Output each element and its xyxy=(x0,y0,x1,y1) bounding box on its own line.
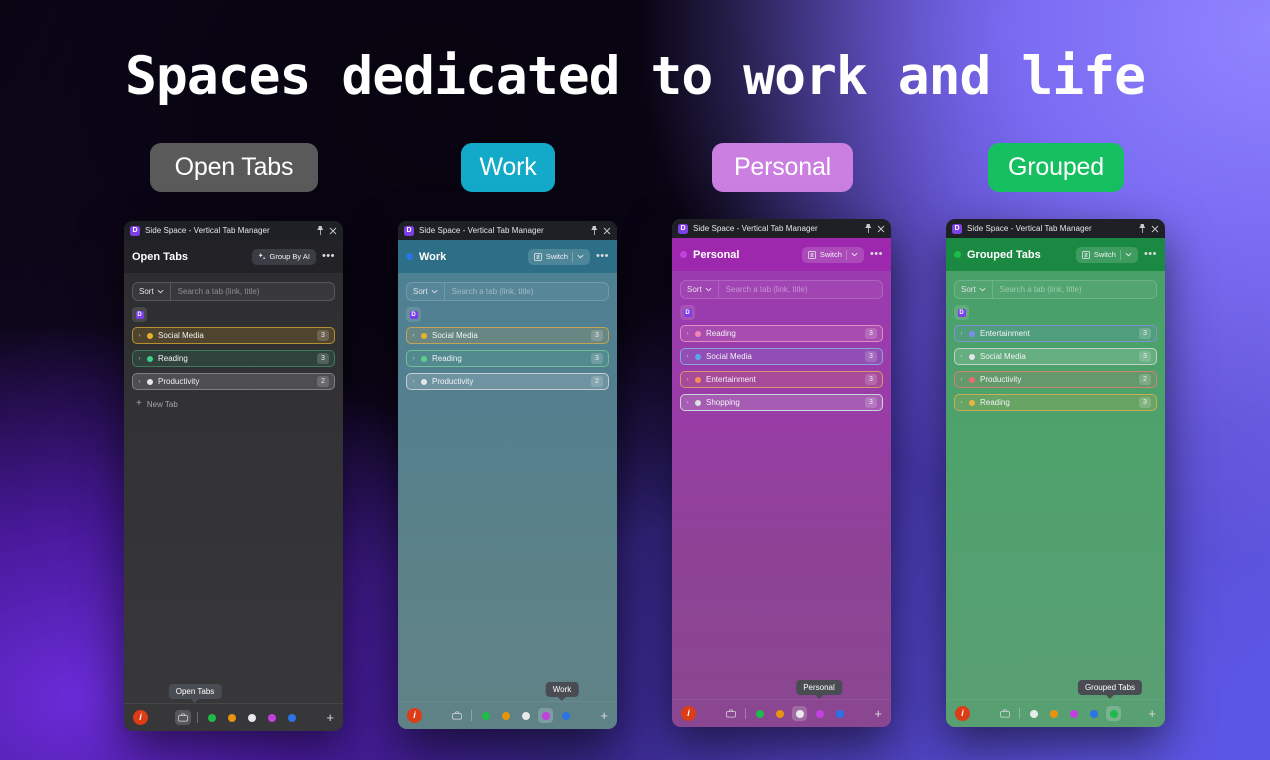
space-switch-dot[interactable] xyxy=(204,710,219,725)
panel-body: SortD›Entertainment3›Social Media3›Produ… xyxy=(946,271,1165,699)
space-switch-dot[interactable] xyxy=(832,706,847,721)
group-color-dot xyxy=(695,377,701,383)
panel-open-tabs: DSide Space - Vertical Tab ManagerOpen T… xyxy=(124,221,343,731)
column-label-2: Personal xyxy=(712,143,853,192)
panel-body: SortD›Social Media3›Reading3›Productivit… xyxy=(124,273,343,703)
chevron-down-icon[interactable] xyxy=(577,254,584,259)
expand-chevron-icon[interactable]: › xyxy=(959,354,964,360)
column-label-3: Grouped xyxy=(988,143,1124,192)
space-name: Open Tabs xyxy=(132,251,188,263)
panel-personal: DSide Space - Vertical Tab ManagerPerson… xyxy=(672,219,891,727)
switch-label: Switch xyxy=(820,250,842,259)
expand-chevron-icon[interactable]: › xyxy=(137,379,142,385)
group-name: Productivity xyxy=(158,377,312,386)
space-switch-dot[interactable] xyxy=(772,706,787,721)
page-title: Spaces dedicated to work and life xyxy=(0,46,1270,107)
sort-button[interactable]: Sort xyxy=(133,283,171,300)
switch-icon xyxy=(808,251,816,259)
add-space-button[interactable]: + xyxy=(600,709,608,722)
group-name: Social Media xyxy=(980,352,1134,361)
pinned-tab-item[interactable]: D xyxy=(680,305,695,320)
dock-tooltip: Personal xyxy=(796,680,842,695)
space-switch-dot[interactable] xyxy=(1046,706,1061,721)
tab-group-row[interactable]: ›Productivity2 xyxy=(406,373,609,390)
group-tab-count: 3 xyxy=(865,374,877,385)
close-icon[interactable] xyxy=(1151,225,1159,233)
tab-group-row[interactable]: ›Reading3 xyxy=(132,350,335,367)
search-input[interactable] xyxy=(445,283,608,300)
group-tab-count: 3 xyxy=(317,330,329,341)
group-color-dot xyxy=(695,400,701,406)
avatar[interactable]: i xyxy=(681,706,696,721)
chevron-down-icon[interactable] xyxy=(851,252,858,257)
space-name: Personal xyxy=(693,249,739,261)
bottom-dock: i+ xyxy=(124,703,343,731)
avatar[interactable]: i xyxy=(133,710,148,725)
search-input[interactable] xyxy=(993,281,1156,298)
chevron-down-icon xyxy=(705,287,712,292)
app-favicon-icon: D xyxy=(136,311,144,319)
search-input[interactable] xyxy=(171,283,334,300)
group-color-dot xyxy=(147,356,153,362)
space-switch-dot[interactable] xyxy=(518,708,533,723)
group-color-dot xyxy=(421,379,427,385)
tab-group-list: ›Social Media3›Reading3›Productivity2 xyxy=(132,327,335,390)
expand-chevron-icon[interactable]: › xyxy=(137,333,142,339)
space-color-dot xyxy=(406,253,413,260)
group-color-dot xyxy=(969,354,975,360)
sort-label: Sort xyxy=(413,287,428,296)
group-by-ai-label: Group By AI xyxy=(270,252,310,261)
switch-icon xyxy=(534,253,542,261)
group-by-ai-button[interactable]: Group By AI xyxy=(252,249,316,265)
space-switch-dot[interactable] xyxy=(538,708,553,723)
more-options-icon[interactable]: ••• xyxy=(1144,249,1157,260)
chevron-down-icon xyxy=(157,289,164,294)
group-color-dot xyxy=(421,333,427,339)
divider xyxy=(1019,708,1020,719)
expand-chevron-icon[interactable]: › xyxy=(411,356,416,362)
expand-chevron-icon[interactable]: › xyxy=(959,377,964,383)
group-name: Reading xyxy=(432,354,586,363)
space-switch-dot[interactable] xyxy=(1086,706,1101,721)
space-switch-dot[interactable] xyxy=(1066,706,1081,721)
tab-group-row[interactable]: ›Productivity2 xyxy=(954,371,1157,388)
sparkle-icon xyxy=(258,253,266,261)
group-name: Reading xyxy=(158,354,312,363)
add-space-button[interactable]: + xyxy=(874,707,882,720)
tab-group-row[interactable]: ›Productivity2 xyxy=(132,373,335,390)
pinned-tabs-row: D xyxy=(680,299,883,325)
window-titlebar: DSide Space - Vertical Tab Manager xyxy=(124,221,343,240)
space-color-dot xyxy=(954,251,961,258)
close-icon[interactable] xyxy=(329,227,337,235)
group-tab-count: 3 xyxy=(591,353,603,364)
app-favicon-icon: D xyxy=(410,311,418,319)
switch-label: Switch xyxy=(546,252,568,261)
open-tabs-icon[interactable] xyxy=(175,710,191,725)
close-icon[interactable] xyxy=(603,227,611,235)
expand-chevron-icon[interactable]: › xyxy=(411,379,416,385)
switch-icon xyxy=(1082,251,1090,259)
sort-button[interactable]: Sort xyxy=(407,283,445,300)
group-name: Productivity xyxy=(432,377,586,386)
app-logo-icon: D xyxy=(130,226,140,236)
space-switch-dot[interactable] xyxy=(792,706,807,721)
group-name: Reading xyxy=(706,329,860,338)
search-input[interactable] xyxy=(719,281,882,298)
panel-grouped: DSide Space - Vertical Tab ManagerGroupe… xyxy=(946,219,1165,727)
group-name: Social Media xyxy=(706,352,860,361)
dock-tooltip: Open Tabs xyxy=(169,684,222,699)
dock-tooltip: Work xyxy=(546,682,579,697)
expand-chevron-icon[interactable]: › xyxy=(685,331,690,337)
group-tab-count: 3 xyxy=(317,353,329,364)
app-favicon-icon: D xyxy=(684,309,692,317)
tab-group-row[interactable]: ›Reading3 xyxy=(680,325,883,342)
column-label-0: Open Tabs xyxy=(150,143,318,192)
group-color-dot xyxy=(695,331,701,337)
window-title: Side Space - Vertical Tab Manager xyxy=(967,224,1092,233)
pinned-tabs-row: D xyxy=(132,301,335,327)
expand-chevron-icon[interactable]: › xyxy=(411,333,416,339)
bottom-dock: i+ xyxy=(398,701,617,729)
space-switch-dot[interactable] xyxy=(264,710,279,725)
empty-space xyxy=(406,390,609,701)
tab-group-row[interactable]: ›Social Media3 xyxy=(406,327,609,344)
new-tab-button[interactable]: +New Tab xyxy=(132,390,335,409)
space-header: Grouped TabsSwitch••• xyxy=(946,238,1165,271)
more-options-icon[interactable]: ••• xyxy=(870,249,883,260)
app-logo-icon: D xyxy=(404,226,414,236)
chevron-down-icon xyxy=(979,287,986,292)
empty-space xyxy=(680,411,883,699)
space-switch-dot[interactable] xyxy=(558,708,573,723)
expand-chevron-icon[interactable]: › xyxy=(685,354,690,360)
space-header: Open TabsGroup By AI••• xyxy=(124,240,343,273)
pin-icon[interactable] xyxy=(591,226,598,235)
space-color-dot xyxy=(680,251,687,258)
open-tabs-icon[interactable] xyxy=(723,706,739,721)
window-titlebar: DSide Space - Vertical Tab Manager xyxy=(672,219,891,238)
group-tab-count: 3 xyxy=(1139,397,1151,408)
more-options-icon[interactable]: ••• xyxy=(596,251,609,262)
expand-chevron-icon[interactable]: › xyxy=(685,400,690,406)
window-title: Side Space - Vertical Tab Manager xyxy=(145,226,270,235)
divider xyxy=(197,712,198,723)
window-title: Side Space - Vertical Tab Manager xyxy=(419,226,544,235)
chevron-down-icon[interactable] xyxy=(1125,252,1132,257)
pinned-tab-item[interactable]: D xyxy=(406,307,421,322)
group-name: Productivity xyxy=(980,375,1134,384)
group-name: Entertainment xyxy=(706,375,860,384)
group-tab-count: 3 xyxy=(865,328,877,339)
group-tab-count: 2 xyxy=(1139,374,1151,385)
panel-body: SortD›Reading3›Social Media3›Entertainme… xyxy=(672,271,891,699)
tab-group-row[interactable]: ›Social Media3 xyxy=(954,348,1157,365)
panel-work: DSide Space - Vertical Tab ManagerWorkSw… xyxy=(398,221,617,729)
sort-button[interactable]: Sort xyxy=(681,281,719,298)
group-color-dot xyxy=(969,400,975,406)
tab-group-row[interactable]: ›Entertainment3 xyxy=(680,371,883,388)
open-tabs-icon[interactable] xyxy=(997,706,1013,721)
search-row: Sort xyxy=(132,282,335,301)
plus-icon: + xyxy=(136,399,142,409)
chevron-down-icon xyxy=(431,289,438,294)
group-tab-count: 3 xyxy=(1139,351,1151,362)
tab-group-row[interactable]: ›Social Media3 xyxy=(132,327,335,344)
column-label-1: Work xyxy=(461,143,555,192)
pin-icon[interactable] xyxy=(1139,224,1146,233)
column-labels: Open TabsWorkPersonalGrouped xyxy=(0,143,1270,193)
expand-chevron-icon[interactable]: › xyxy=(959,331,964,337)
tab-group-row[interactable]: ›Entertainment3 xyxy=(954,325,1157,342)
add-space-button[interactable]: + xyxy=(326,711,334,724)
space-switch-dot[interactable] xyxy=(284,710,299,725)
search-row: Sort xyxy=(680,280,883,299)
add-space-button[interactable]: + xyxy=(1148,707,1156,720)
group-name: Reading xyxy=(980,398,1134,407)
divider xyxy=(745,708,746,719)
space-header: PersonalSwitch••• xyxy=(672,238,891,271)
space-switch-dot[interactable] xyxy=(752,706,767,721)
more-options-icon[interactable]: ••• xyxy=(322,251,335,262)
sort-label: Sort xyxy=(687,285,702,294)
space-switch-dot[interactable] xyxy=(498,708,513,723)
app-logo-icon: D xyxy=(952,224,962,234)
space-switch-dot[interactable] xyxy=(1026,706,1041,721)
app-favicon-icon: D xyxy=(958,309,966,317)
tab-group-row[interactable]: ›Shopping3 xyxy=(680,394,883,411)
group-color-dot xyxy=(969,377,975,383)
empty-space xyxy=(132,409,335,703)
group-color-dot xyxy=(969,331,975,337)
group-name: Shopping xyxy=(706,398,860,407)
expand-chevron-icon[interactable]: › xyxy=(685,377,690,383)
divider xyxy=(471,710,472,721)
space-switch-dot[interactable] xyxy=(224,710,239,725)
expand-chevron-icon[interactable]: › xyxy=(137,356,142,362)
close-icon[interactable] xyxy=(877,225,885,233)
search-row: Sort xyxy=(954,280,1157,299)
space-switch-dot[interactable] xyxy=(812,706,827,721)
space-name: Work xyxy=(419,251,446,263)
group-color-dot xyxy=(421,356,427,362)
dock-tooltip: Grouped Tabs xyxy=(1078,680,1142,695)
window-title: Side Space - Vertical Tab Manager xyxy=(693,224,818,233)
panel-body: SortD›Social Media3›Reading3›Productivit… xyxy=(398,273,617,701)
pinned-tab-item[interactable]: D xyxy=(954,305,969,320)
app-logo-icon: D xyxy=(678,224,688,234)
group-tab-count: 2 xyxy=(317,376,329,387)
divider xyxy=(1120,250,1121,260)
bottom-dock: i+ xyxy=(946,699,1165,727)
switch-space-button[interactable]: Switch xyxy=(1076,247,1138,263)
window-titlebar: DSide Space - Vertical Tab Manager xyxy=(946,219,1165,238)
space-name: Grouped Tabs xyxy=(967,249,1041,261)
window-titlebar: DSide Space - Vertical Tab Manager xyxy=(398,221,617,240)
tab-group-row[interactable]: ›Social Media3 xyxy=(680,348,883,365)
switch-space-button[interactable]: Switch xyxy=(528,249,590,265)
pinned-tab-item[interactable]: D xyxy=(132,307,147,322)
switch-space-button[interactable]: Switch xyxy=(802,247,864,263)
avatar[interactable]: i xyxy=(955,706,970,721)
tab-group-row[interactable]: ›Reading3 xyxy=(406,350,609,367)
divider xyxy=(572,252,573,262)
tab-group-list: ›Social Media3›Reading3›Productivity2 xyxy=(406,327,609,390)
space-switch-dot[interactable] xyxy=(244,710,259,725)
new-tab-label: New Tab xyxy=(147,400,178,409)
group-name: Social Media xyxy=(158,331,312,340)
space-switch-dot[interactable] xyxy=(1106,706,1121,721)
empty-space xyxy=(954,411,1157,699)
space-header: WorkSwitch••• xyxy=(398,240,617,273)
group-tab-count: 3 xyxy=(865,351,877,362)
group-tab-count: 3 xyxy=(865,397,877,408)
pin-icon[interactable] xyxy=(317,226,324,235)
group-tab-count: 2 xyxy=(591,376,603,387)
avatar[interactable]: i xyxy=(407,708,422,723)
sort-label: Sort xyxy=(139,287,154,296)
sort-button[interactable]: Sort xyxy=(955,281,993,298)
expand-chevron-icon[interactable]: › xyxy=(959,400,964,406)
sort-label: Sort xyxy=(961,285,976,294)
pinned-tabs-row: D xyxy=(954,299,1157,325)
switch-label: Switch xyxy=(1094,250,1116,259)
tab-group-row[interactable]: ›Reading3 xyxy=(954,394,1157,411)
pin-icon[interactable] xyxy=(865,224,872,233)
pinned-tabs-row: D xyxy=(406,301,609,327)
open-tabs-icon[interactable] xyxy=(449,708,465,723)
tab-group-list: ›Entertainment3›Social Media3›Productivi… xyxy=(954,325,1157,411)
group-color-dot xyxy=(147,379,153,385)
group-color-dot xyxy=(695,354,701,360)
divider xyxy=(846,250,847,260)
bottom-dock: i+ xyxy=(672,699,891,727)
group-color-dot xyxy=(147,333,153,339)
group-tab-count: 3 xyxy=(1139,328,1151,339)
group-name: Social Media xyxy=(432,331,586,340)
group-tab-count: 3 xyxy=(591,330,603,341)
tab-group-list: ›Reading3›Social Media3›Entertainment3›S… xyxy=(680,325,883,411)
group-name: Entertainment xyxy=(980,329,1134,338)
space-switch-dot[interactable] xyxy=(478,708,493,723)
search-row: Sort xyxy=(406,282,609,301)
